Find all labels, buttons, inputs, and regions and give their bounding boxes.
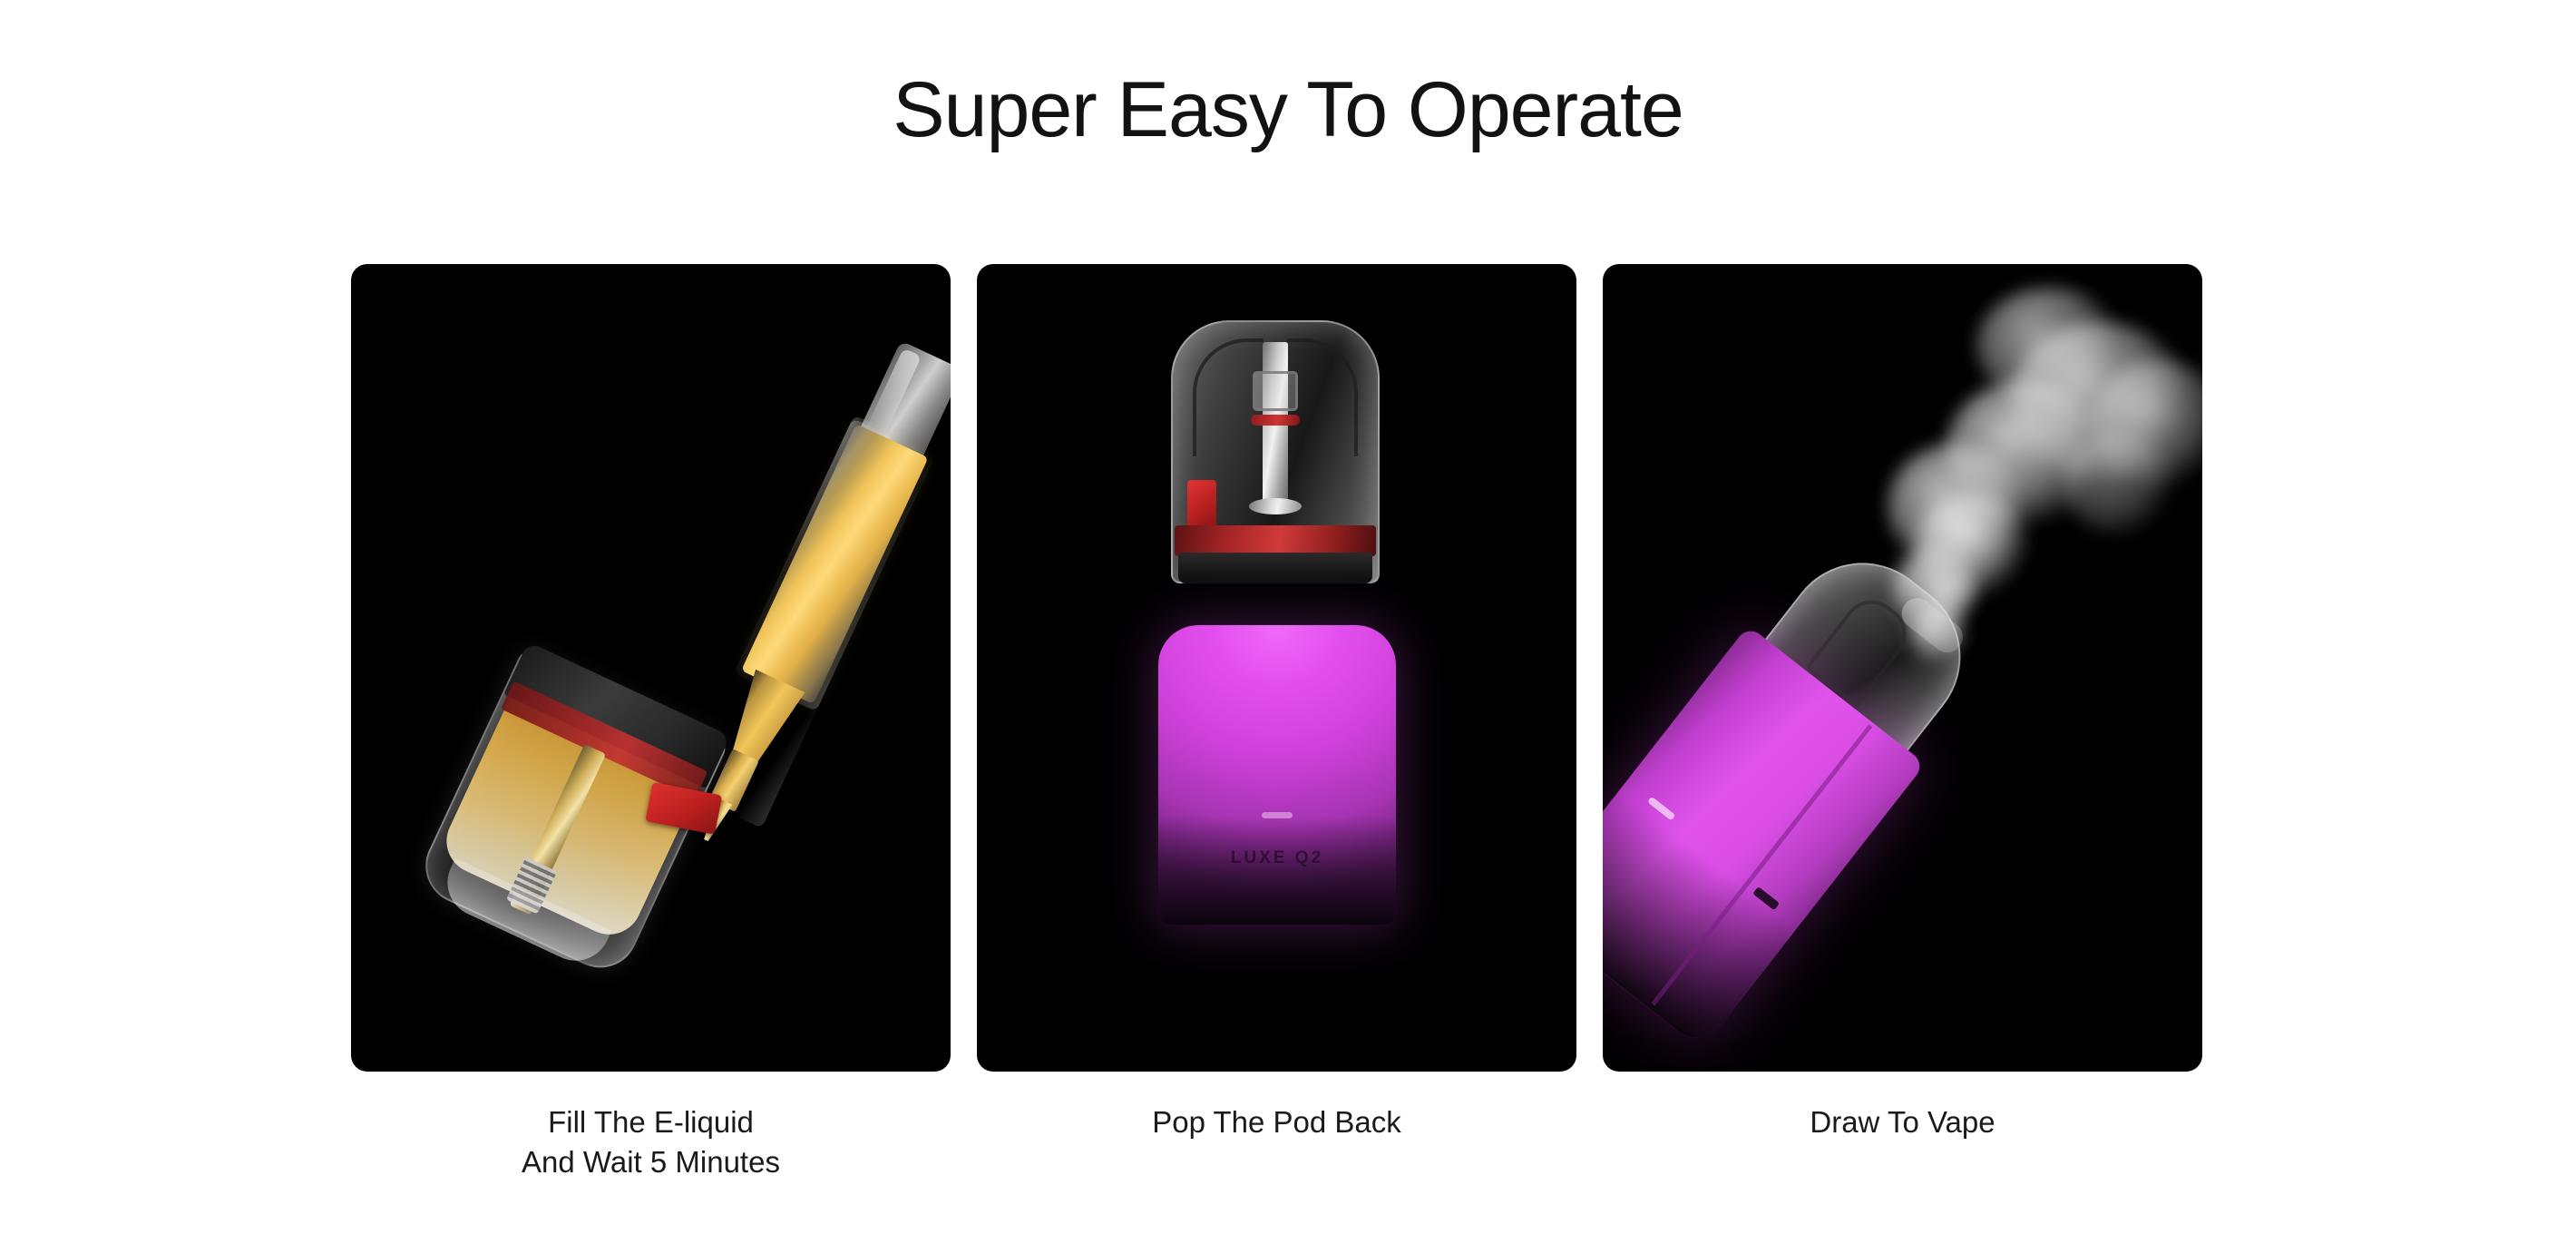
cartridge-collar bbox=[1253, 371, 1298, 411]
vapor-puff bbox=[2062, 433, 2176, 534]
device-body: LUXE Q2 bbox=[1158, 625, 1396, 925]
steps-gallery: LUXE Q2 bbox=[351, 264, 2204, 1072]
caption-line-1: Fill The E-liquid bbox=[548, 1105, 754, 1139]
caption-line-1: Draw To Vape bbox=[1810, 1105, 1995, 1139]
vapor-puff bbox=[1976, 288, 2122, 406]
dropper-liquid-body bbox=[741, 424, 929, 704]
step-caption-draw-to-vape: Draw To Vape bbox=[1603, 1102, 2202, 1142]
device-led-indicator bbox=[1262, 812, 1293, 818]
pod-cartridge-filling bbox=[413, 646, 729, 980]
device-brand-label: LUXE Q2 bbox=[1158, 848, 1396, 868]
page-root: Super Easy To Operate bbox=[0, 0, 2576, 1234]
caption-line-2: And Wait 5 Minutes bbox=[351, 1142, 951, 1182]
pod-cartridge bbox=[1171, 320, 1380, 583]
cartridge-chimney bbox=[1263, 342, 1288, 511]
cartridge-red-tab bbox=[1187, 480, 1216, 527]
step-image-pop-pod-back[interactable]: LUXE Q2 bbox=[977, 264, 1576, 1072]
step-image-fill-eliquid[interactable] bbox=[351, 264, 951, 1072]
cartridge-contacts bbox=[1178, 553, 1372, 583]
step-caption-pop-pod-back: Pop The Pod Back bbox=[977, 1102, 1576, 1142]
caption-line-1: Pop The Pod Back bbox=[1152, 1105, 1401, 1139]
step-caption-fill-eliquid: Fill The E-liquid And Wait 5 Minutes bbox=[351, 1102, 951, 1182]
page-title: Super Easy To Operate bbox=[0, 71, 2576, 149]
cartridge-metal-ring bbox=[1249, 498, 1302, 514]
cartridge-red-seal bbox=[1251, 415, 1300, 426]
device-brand-label: LUXE Q2 bbox=[1603, 923, 1607, 985]
cartridge-red-base bbox=[1175, 525, 1376, 556]
step-image-draw-to-vape[interactable]: LUXE Q2 bbox=[1603, 264, 2202, 1072]
